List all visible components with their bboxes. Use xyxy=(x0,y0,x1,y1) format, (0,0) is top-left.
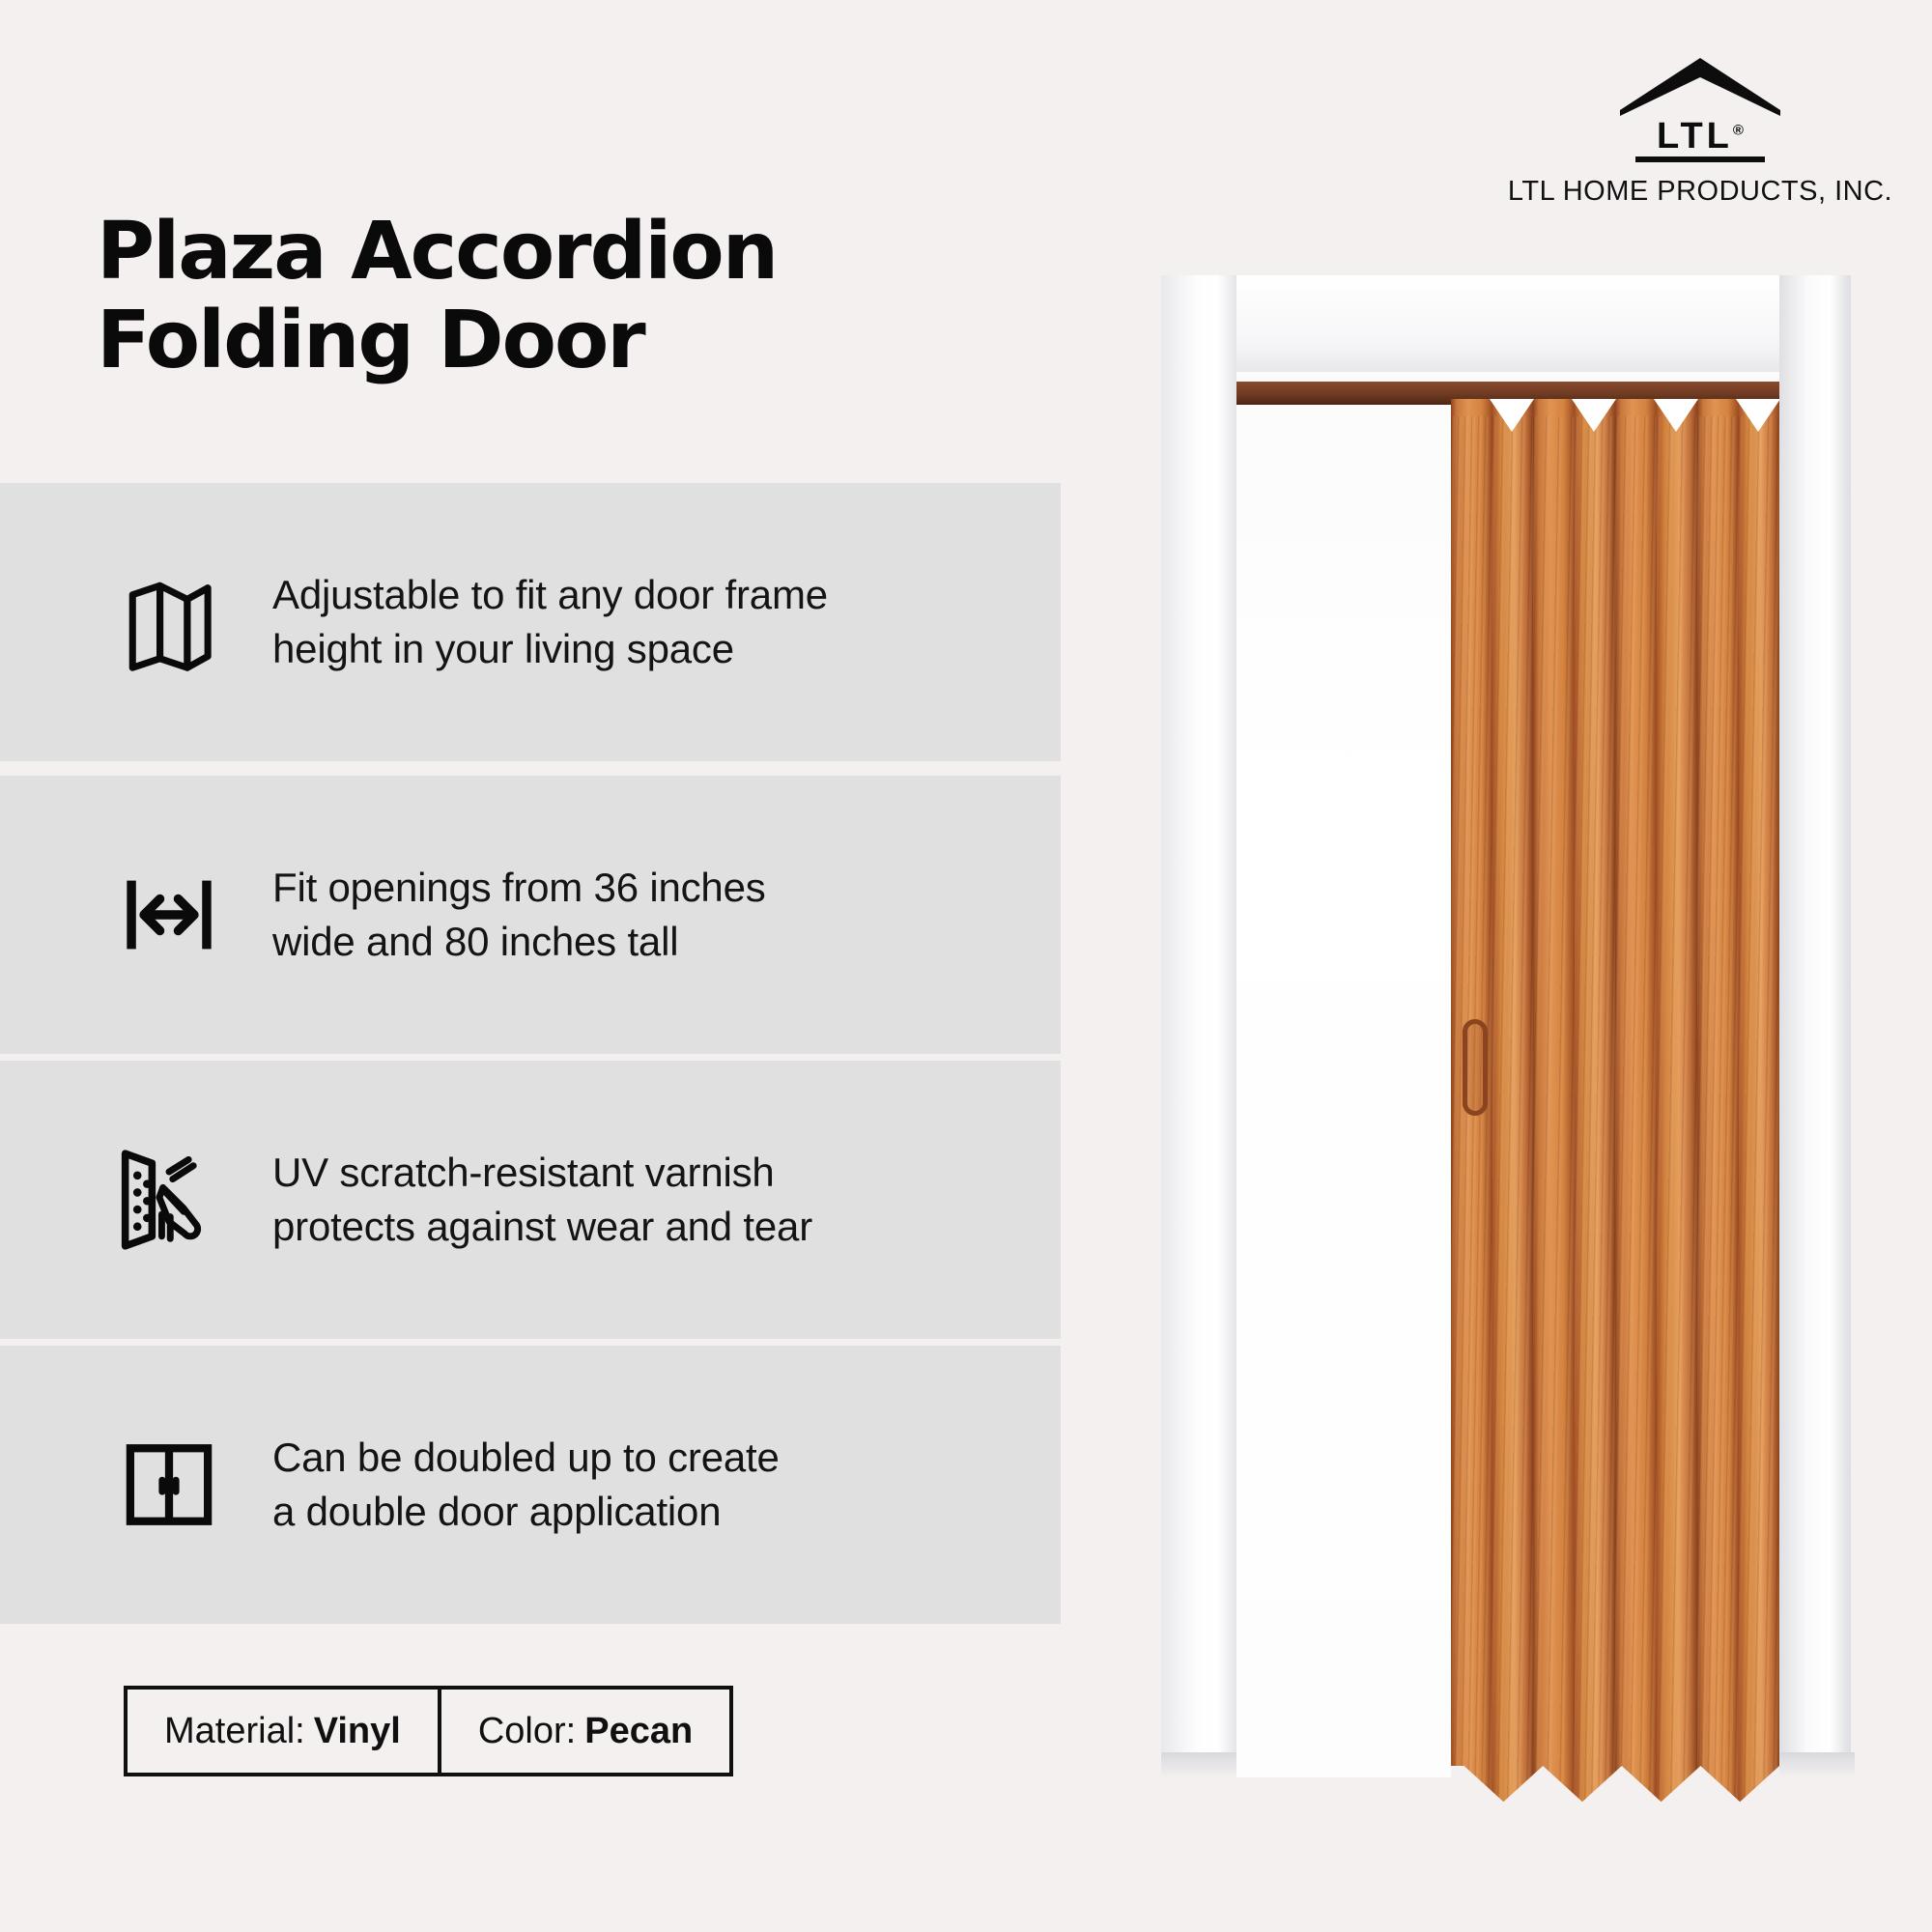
wood-grain xyxy=(1697,416,1739,1824)
door-panel xyxy=(1739,399,1780,1824)
spec-material-value: Vinyl xyxy=(314,1711,401,1752)
spec-material-label: Material: xyxy=(164,1711,305,1752)
wood-grain xyxy=(1492,416,1534,1824)
accordion-door-panels xyxy=(1451,399,1779,1824)
door-frame-head xyxy=(1161,275,1851,372)
spec-color-value: Pecan xyxy=(584,1711,693,1752)
feature-text: UV scratch-resistant varnish protects ag… xyxy=(272,1146,812,1254)
feature-row: Can be doubled up to create a double doo… xyxy=(0,1346,1061,1624)
registered-trademark-icon: ® xyxy=(1733,122,1744,138)
door-panel xyxy=(1697,399,1739,1824)
double-door-icon xyxy=(97,1428,241,1542)
company-name: LTL HOME PRODUCTS, INC. xyxy=(1507,176,1893,208)
wood-grain xyxy=(1615,416,1657,1824)
logo-mark-text: LTL® xyxy=(1618,118,1782,155)
door-panel xyxy=(1657,399,1698,1824)
house-roof-chevron-icon xyxy=(1618,56,1782,116)
wood-grain xyxy=(1739,416,1780,1824)
spec-row: Material: Vinyl Color: Pecan xyxy=(124,1686,733,1776)
feature-text: Fit openings from 36 inches wide and 80 … xyxy=(272,861,766,969)
logo-mark: LTL® xyxy=(1618,56,1782,162)
accordion-folding-door-photo xyxy=(1140,275,1932,1821)
feature-row: Fit openings from 36 inches wide and 80 … xyxy=(0,776,1061,1054)
folding-panels-icon xyxy=(97,565,241,679)
spec-color: Color: Pecan xyxy=(441,1686,733,1776)
logo-underline xyxy=(1635,156,1765,162)
door-frame-right-jamb xyxy=(1779,275,1851,1777)
wood-grain xyxy=(1657,416,1698,1824)
jamb-floor-shadow xyxy=(1779,1752,1855,1777)
feature-row: UV scratch-resistant varnish protects ag… xyxy=(0,1061,1061,1339)
door-handle[interactable] xyxy=(1463,1019,1488,1116)
logo-ltl-letters: LTL xyxy=(1657,116,1733,156)
width-measure-arrow-icon xyxy=(97,858,241,972)
door-frame-left-jamb xyxy=(1161,275,1236,1777)
door-panel xyxy=(1492,399,1534,1824)
jamb-floor-shadow xyxy=(1161,1752,1236,1777)
feature-row: Adjustable to fit any door frame height … xyxy=(0,483,1061,761)
scratch-resistant-blade-icon xyxy=(97,1139,241,1261)
door-panel xyxy=(1533,399,1575,1824)
spec-material: Material: Vinyl xyxy=(124,1686,441,1776)
feature-text: Adjustable to fit any door frame height … xyxy=(272,568,828,676)
door-panel xyxy=(1575,399,1616,1824)
door-panel xyxy=(1615,399,1657,1824)
brand-logo: LTL® LTL HOME PRODUCTS, INC. xyxy=(1507,56,1893,208)
page-title: Plaza Accordion Folding Door xyxy=(97,208,1014,385)
spec-color-label: Color: xyxy=(478,1711,576,1752)
wood-grain xyxy=(1533,416,1575,1824)
feature-text: Can be doubled up to create a double doo… xyxy=(272,1431,780,1539)
wood-grain xyxy=(1451,416,1492,1824)
wood-grain xyxy=(1575,416,1616,1824)
